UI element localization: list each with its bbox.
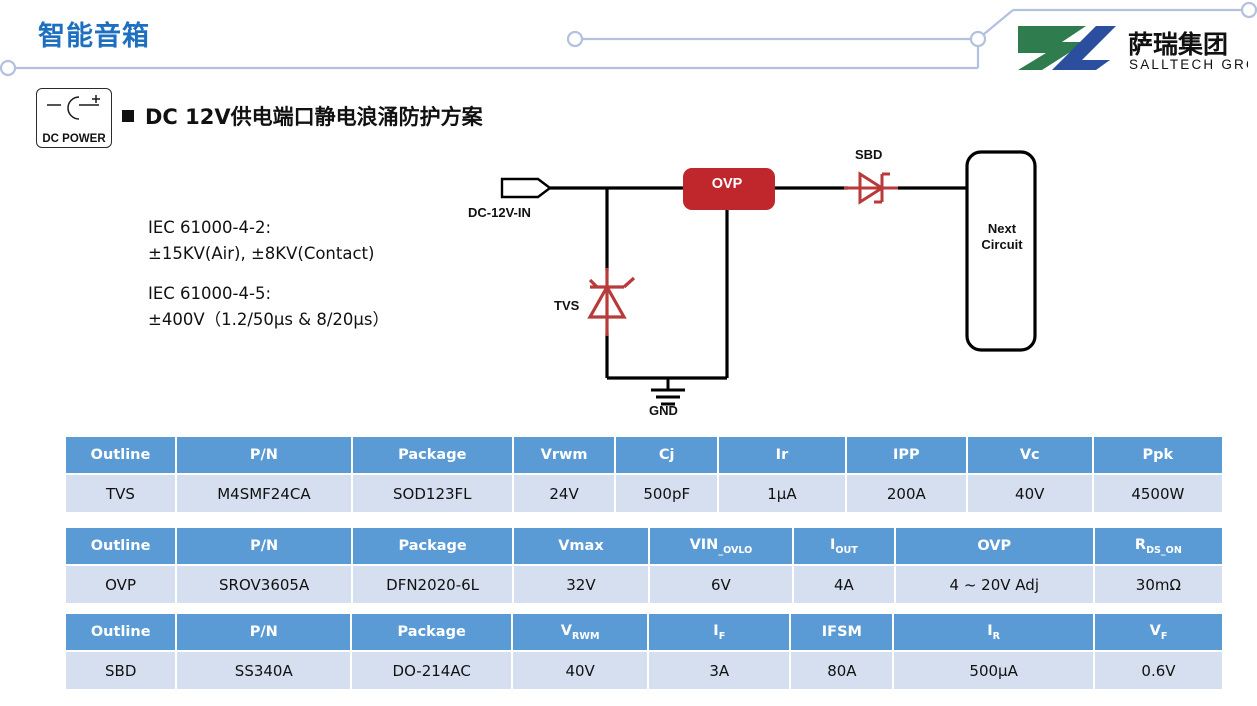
dc-barrel-symbol: [37, 89, 111, 131]
table-cell: 4500W: [1094, 475, 1222, 512]
table-cell: SBD: [66, 652, 175, 689]
gnd-label: GND: [649, 403, 678, 418]
spec-line-4: ±400V（1.2/50μs & 8/20μs）: [148, 307, 389, 333]
column-header: P/N: [177, 528, 351, 566]
table-cell: 500μA: [894, 652, 1093, 689]
table-cell: TVS: [66, 475, 175, 512]
column-header: Ir: [719, 437, 845, 475]
column-header: IR: [894, 614, 1093, 652]
sbd-label: SBD: [855, 147, 882, 162]
deco-circle-corner: [971, 32, 985, 46]
column-header: Package: [353, 437, 512, 475]
column-header: Outline: [66, 437, 175, 475]
spec-line-3: IEC 61000-4-5:: [148, 281, 389, 307]
table-cell: 0.6V: [1095, 652, 1222, 689]
table-cell: 500pF: [616, 475, 717, 512]
deco-circle-left: [1, 61, 15, 75]
column-header: Vrwm: [514, 437, 615, 475]
column-header: Vc: [968, 437, 1092, 475]
deco-circle-mid: [568, 32, 582, 46]
dc-in-label: DC-12V-IN: [468, 205, 531, 220]
column-header: VIN_OVLO: [650, 528, 792, 566]
input-connector-icon: [502, 179, 550, 197]
dc-power-icon: DC POWER: [36, 88, 112, 148]
spec-text-block: IEC 61000-4-2: ±15KV(Air), ±8KV(Contact)…: [148, 215, 389, 333]
column-header: OVP: [896, 528, 1093, 566]
next-circuit-label: Next Circuit: [967, 221, 1037, 253]
table-cell: 30mΩ: [1095, 566, 1222, 603]
tvs-label: TVS: [554, 298, 579, 313]
table-cell: 4 ~ 20V Adj: [896, 566, 1093, 603]
column-header: IF: [649, 614, 789, 652]
table-cell: SOD123FL: [353, 475, 512, 512]
table-cell: SROV3605A: [177, 566, 351, 603]
table-cell: 6V: [650, 566, 792, 603]
column-header: Outline: [66, 528, 175, 566]
table-cell: SS340A: [177, 652, 350, 689]
table-cell: 3A: [649, 652, 789, 689]
deco-circle-right: [1242, 3, 1256, 17]
page-title: 智能音箱: [38, 14, 150, 53]
next-circuit-line-2: Circuit: [981, 237, 1022, 252]
sbd-symbol: [844, 174, 902, 202]
table-cell: 40V: [513, 652, 647, 689]
table-cell: 40V: [968, 475, 1092, 512]
ovp-table: OutlineP/NPackageVmaxVIN_OVLOIOUTOVPRDS_…: [64, 528, 1224, 603]
company-logo: 萨瑞集团 SALLTECH GROUP: [1012, 20, 1248, 74]
column-header: Outline: [66, 614, 175, 652]
column-header: RDS_ON: [1095, 528, 1222, 566]
table-cell: 80A: [791, 652, 892, 689]
ground-icon: [651, 378, 685, 404]
column-header: Vmax: [514, 528, 648, 566]
column-header: Package: [353, 528, 512, 566]
table-row: TVSM4SMF24CASOD123FL24V500pF1μA200A40V45…: [66, 475, 1222, 512]
column-header: P/N: [177, 614, 350, 652]
column-header: Package: [352, 614, 511, 652]
table-row: OVPSROV3605ADFN2020-6L32V6V4A4 ~ 20V Adj…: [66, 566, 1222, 603]
table-cell: DFN2020-6L: [353, 566, 512, 603]
column-header: IOUT: [794, 528, 894, 566]
table-cell: 24V: [514, 475, 615, 512]
table-row: SBDSS340ADO-214AC40V3A80A500μA0.6V: [66, 652, 1222, 689]
table-cell: 200A: [847, 475, 966, 512]
sbd-table: OutlineP/NPackageVRWMIFIFSMIRVFSBDSS340A…: [64, 614, 1224, 689]
column-header: Cj: [616, 437, 717, 475]
spec-line-1: IEC 61000-4-2:: [148, 215, 389, 241]
logo-en-name: SALLTECH GROUP: [1129, 57, 1248, 72]
column-header: IPP: [847, 437, 966, 475]
column-header: P/N: [177, 437, 351, 475]
table-cell: OVP: [66, 566, 175, 603]
table-cell: 4A: [794, 566, 894, 603]
bullet-icon: [122, 110, 134, 122]
tvs-symbol: [590, 268, 634, 336]
table-cell: 32V: [514, 566, 648, 603]
dc-power-label: DC POWER: [37, 133, 111, 145]
logo-mark: [1018, 26, 1116, 70]
column-header: VRWM: [513, 614, 647, 652]
section-heading-text: DC 12V供电端口静电浪涌防护方案: [145, 105, 483, 129]
column-header: Ppk: [1094, 437, 1222, 475]
spec-line-2: ±15KV(Air), ±8KV(Contact): [148, 241, 389, 267]
table-cell: M4SMF24CA: [177, 475, 351, 512]
tvs-table: OutlineP/NPackageVrwmCjIrIPPVcPpkTVSM4SM…: [64, 437, 1224, 512]
ovp-label: OVP: [683, 176, 771, 192]
section-heading: DC 12V供电端口静电浪涌防护方案: [122, 101, 483, 131]
column-header: IFSM: [791, 614, 892, 652]
table-cell: 1μA: [719, 475, 845, 512]
next-circuit-line-1: Next: [988, 221, 1016, 236]
logo-cn-name: 萨瑞集团: [1128, 30, 1228, 59]
table-cell: DO-214AC: [352, 652, 511, 689]
column-header: VF: [1095, 614, 1222, 652]
